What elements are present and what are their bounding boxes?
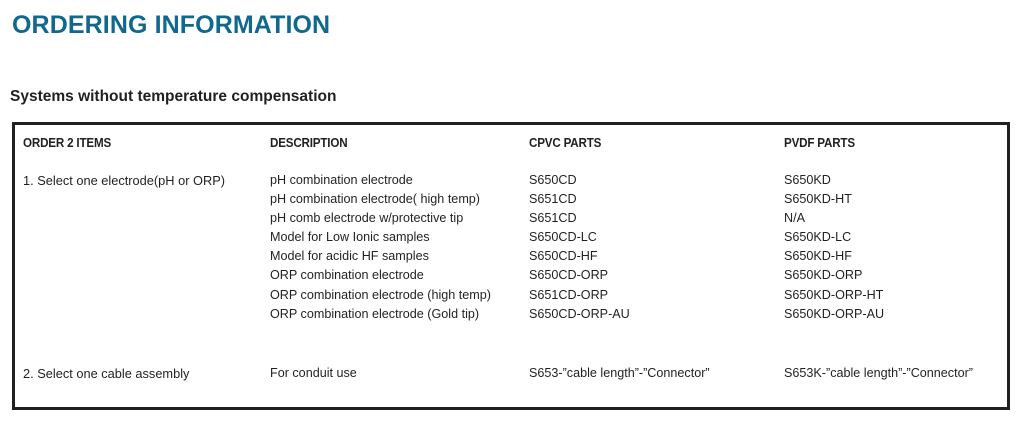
description-cell: ORP combination electrode (high temp) (270, 286, 491, 305)
cpvc-part-number: S650CD (529, 171, 630, 190)
description-cell: ORP combination electrode (270, 266, 491, 285)
table-row: 1. Select one electrode(pH or ORP) (23, 171, 225, 190)
column-header-pvdf-parts: PVDF PARTS (784, 136, 855, 150)
order-item-2: 2. Select one cable assembly (23, 364, 189, 383)
cpvc-part-number: S650CD-ORP (529, 266, 630, 285)
table-row: pH combination electrode pH combination … (270, 171, 491, 324)
table-row: S650KD S650KD-HT N/A S650KD-LC S650KD-HF… (784, 171, 884, 324)
pvdf-part-number: S650KD-HT (784, 190, 884, 209)
cpvc-part-number: S650CD-HF (529, 247, 630, 266)
pvdf-part-number: S650KD-ORP-AU (784, 305, 884, 324)
pvdf-part-number: S650KD-ORP-HT (784, 286, 884, 305)
column-header-order-items: ORDER 2 ITEMS (23, 136, 111, 150)
description-cell: ORP combination electrode (Gold tip) (270, 305, 491, 324)
description-cell: pH combination electrode (270, 171, 491, 190)
pvdf-part-number: N/A (784, 209, 884, 228)
cpvc-part-number: S650CD-ORP-AU (529, 305, 630, 324)
pvdf-part-number: S653K-”cable length”-”Connector” (784, 364, 973, 383)
pvdf-part-number: S650KD-HF (784, 247, 884, 266)
cpvc-part-number: S653-”cable length”-”Connector” (529, 364, 710, 383)
table-row: S653-”cable length”-”Connector” (529, 364, 710, 383)
pvdf-part-number: S650KD-LC (784, 228, 884, 247)
cpvc-part-number: S651CD-ORP (529, 286, 630, 305)
description-cell: pH comb electrode w/protective tip (270, 209, 491, 228)
ordering-information-table: ORDER 2 ITEMS 1. Select one electrode(pH… (12, 122, 1010, 410)
description-cell: Model for Low Ionic samples (270, 228, 491, 247)
table-row: For conduit use (270, 364, 357, 383)
page-title: ORDERING INFORMATION (12, 11, 330, 40)
pvdf-part-number: S650KD (784, 171, 884, 190)
table-row: S650CD S651CD S651CD S650CD-LC S650CD-HF… (529, 171, 630, 324)
section-subtitle: Systems without temperature compensation (10, 88, 336, 106)
column-header-description: DESCRIPTION (270, 136, 347, 150)
pvdf-part-number: S650KD-ORP (784, 266, 884, 285)
cpvc-part-number: S650CD-LC (529, 228, 630, 247)
cpvc-part-number: S651CD (529, 209, 630, 228)
description-cell: For conduit use (270, 364, 357, 383)
order-item-1: 1. Select one electrode(pH or ORP) (23, 171, 225, 190)
cpvc-part-number: S651CD (529, 190, 630, 209)
description-cell: pH combination electrode( high temp) (270, 190, 491, 209)
table-row: S653K-”cable length”-”Connector” (784, 364, 973, 383)
description-cell: Model for acidic HF samples (270, 247, 491, 266)
column-header-cpvc-parts: CPVC PARTS (529, 136, 601, 150)
table-row: 2. Select one cable assembly (23, 364, 189, 383)
